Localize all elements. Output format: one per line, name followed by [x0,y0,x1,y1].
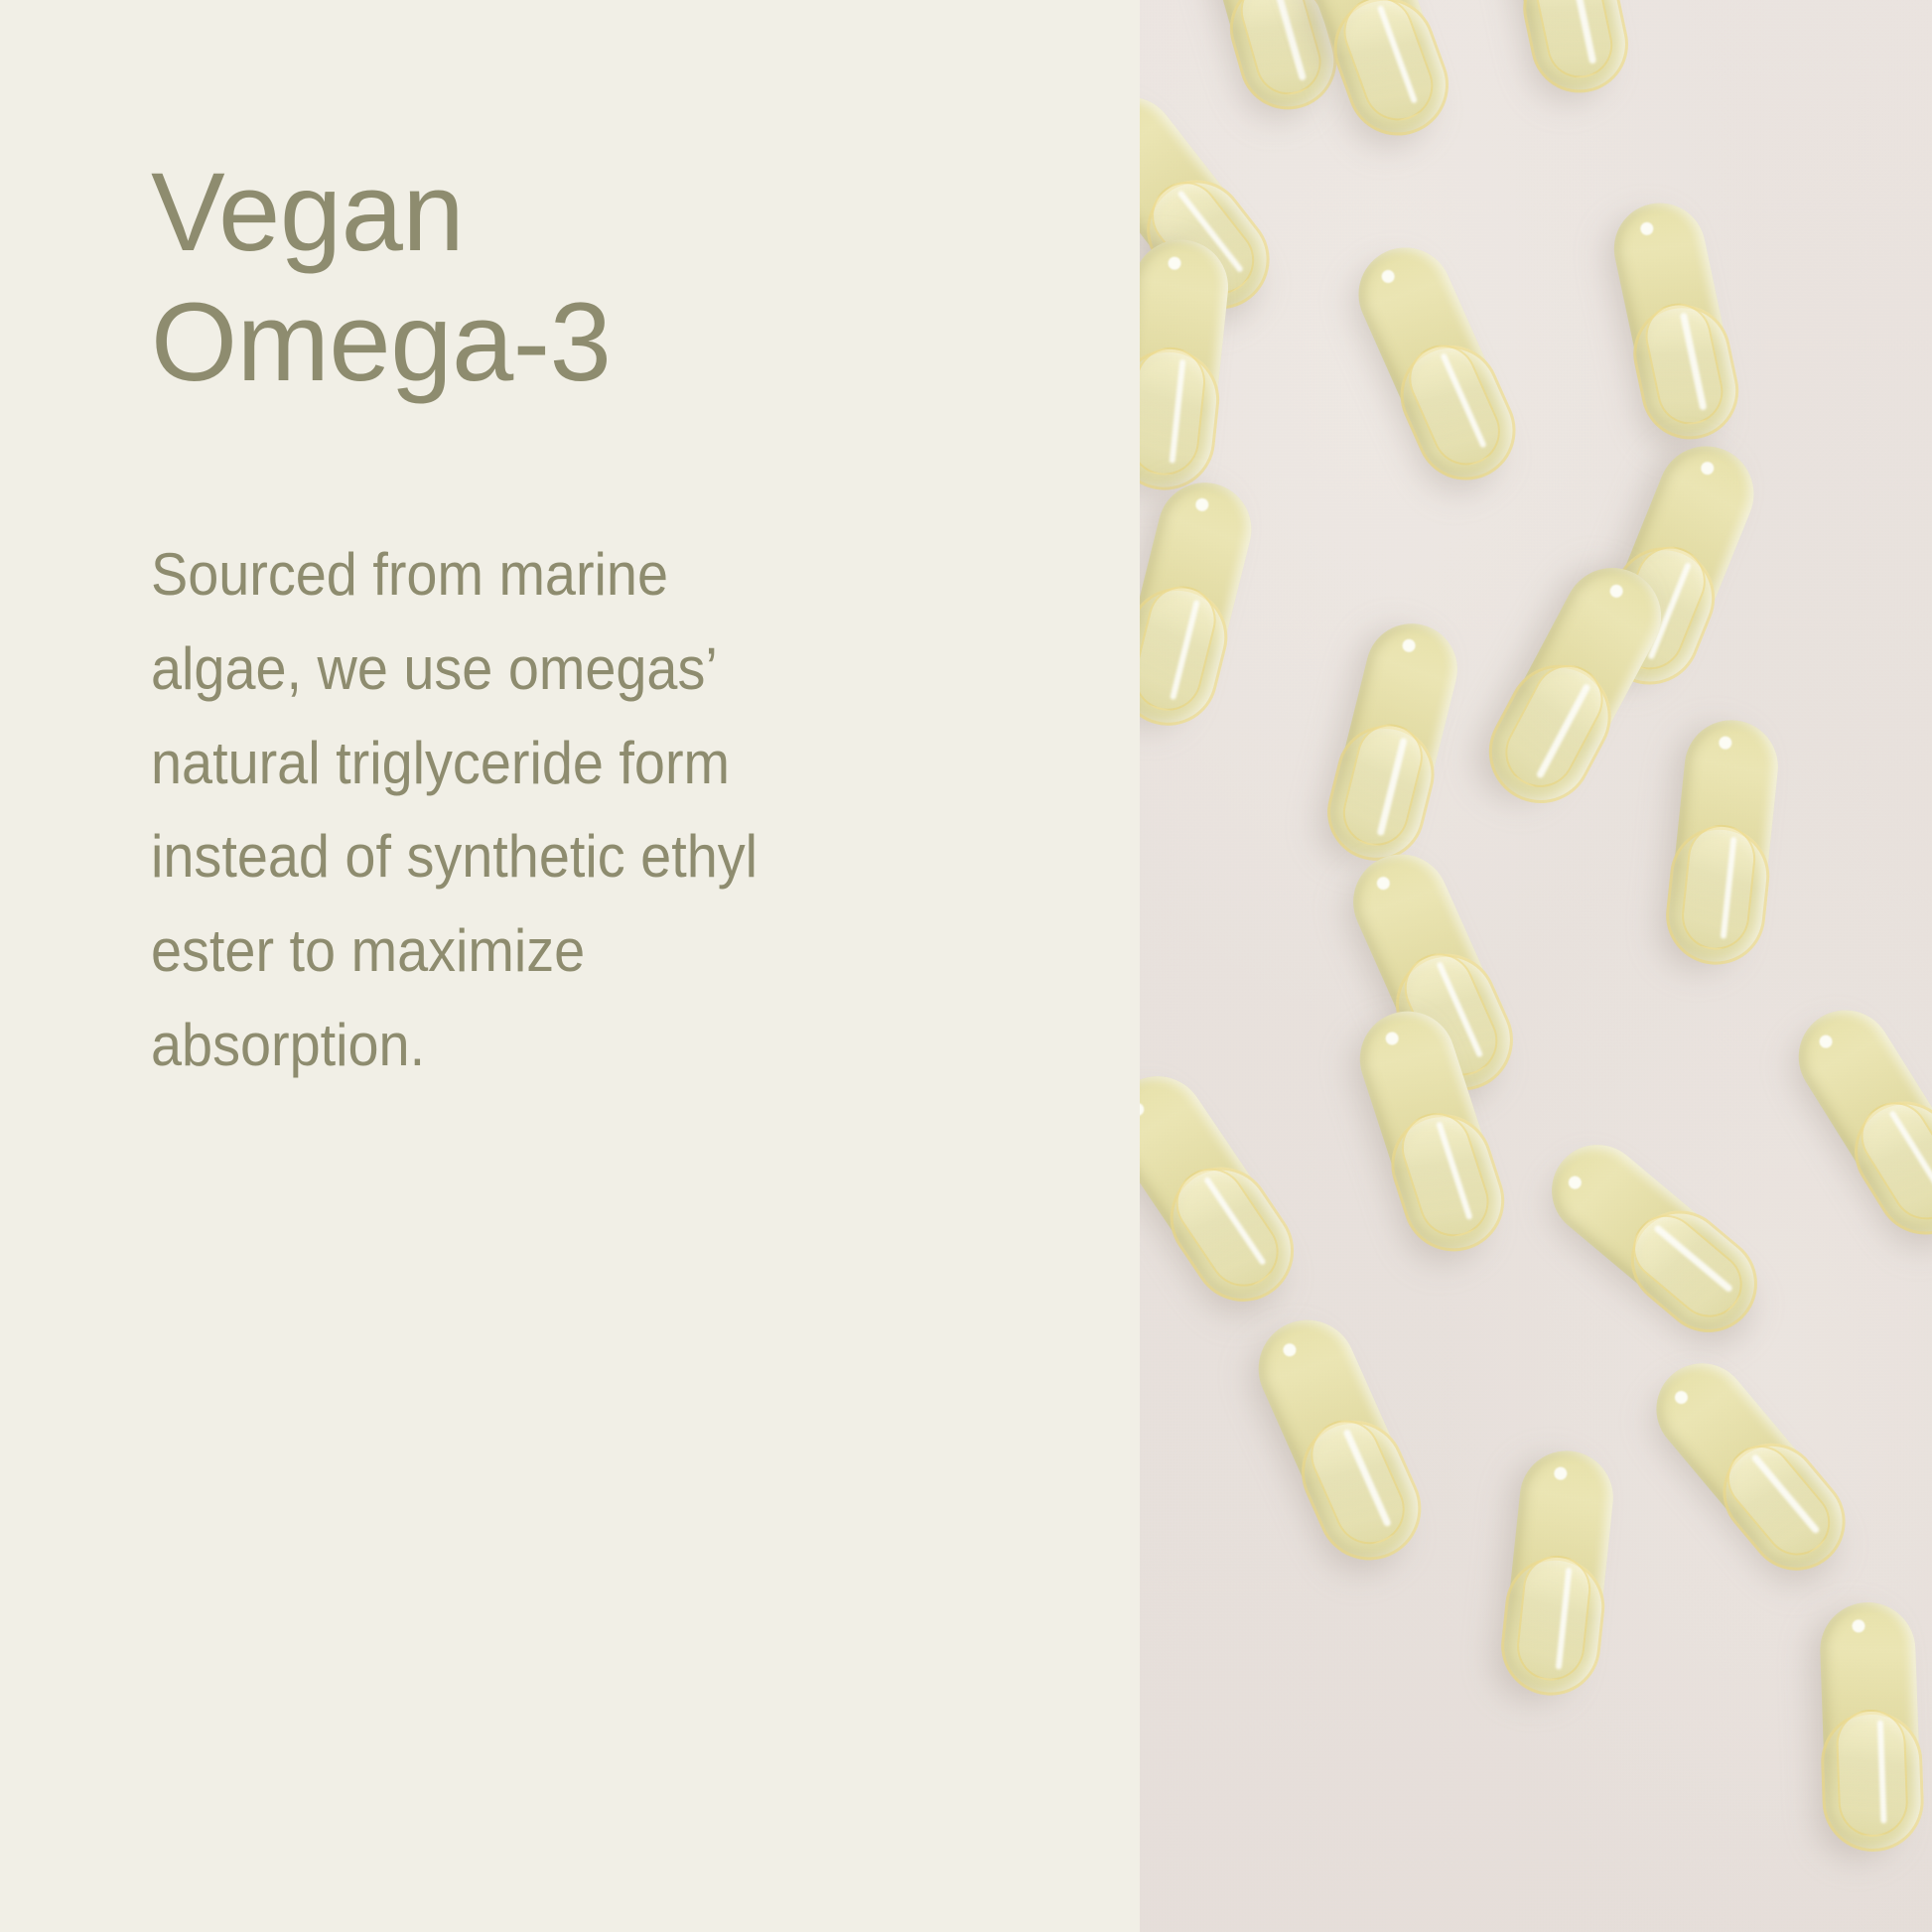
capsule [1495,0,1633,98]
capsule [1140,473,1261,732]
capsule [1533,1126,1772,1347]
capsule [1343,232,1527,491]
promo-canvas: Vegan Omega-3 Sourced from marine algae,… [0,0,1932,1932]
capsule [1140,235,1233,492]
capsule [1500,1447,1618,1697]
capsule-inner-ring [1836,1708,1909,1837]
capsule [1605,195,1743,445]
capsule [1638,1345,1862,1587]
capsule [1781,993,1932,1249]
capsule [1819,1600,1923,1850]
capsule [1320,614,1466,867]
capsule [1243,1305,1434,1573]
page-title: Vegan Omega-3 [151,147,1001,407]
product-photo [1140,0,1932,1932]
body-paragraph: Sourced from marine algae, we use omegas… [151,528,816,1093]
capsule [1140,1058,1310,1317]
capsule [1665,716,1783,966]
text-panel: Vegan Omega-3 Sourced from marine algae,… [0,0,1140,1932]
